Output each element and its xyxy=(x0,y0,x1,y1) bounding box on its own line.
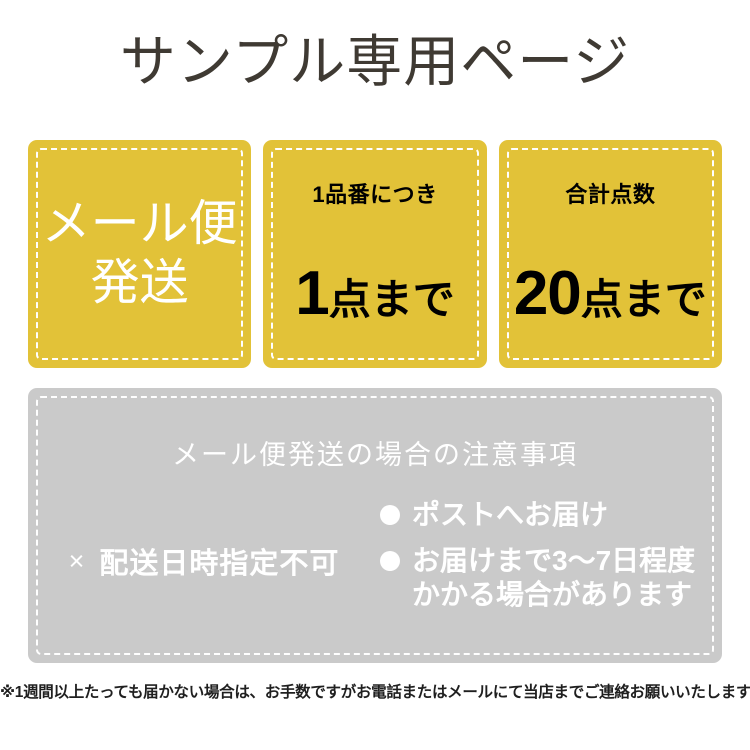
card-total-items-limit-value: 20点まで xyxy=(499,263,722,331)
card-per-item-limit-number: 1 xyxy=(295,259,328,328)
card-mail-delivery-content: メール便 発送 xyxy=(28,140,251,368)
info-cards-row: メール便 発送 1品番につき 1点まで 合計点数 20点まで xyxy=(28,140,722,368)
card-per-item-limit-value: 1点まで xyxy=(263,263,486,331)
page-title: サンプル専用ページ xyxy=(0,26,750,98)
card-per-item-limit-suffix: 点まで xyxy=(329,276,455,323)
card-mail-delivery-line2: 発送 xyxy=(91,254,189,313)
cross-mark-icon: × xyxy=(69,546,86,577)
notice-bullet-2-line2: かかる場合があります xyxy=(412,578,695,612)
card-mail-delivery-line1: メール便 xyxy=(42,195,238,254)
footnote-text: ※1週間以上たっても届かない場合は、お手数ですがお電話またはメールにて当店までご… xyxy=(0,682,750,704)
bullet-dot-icon xyxy=(380,505,400,525)
card-total-items-limit-suffix: 点まで xyxy=(581,276,707,323)
notice-no-date-designation: × 配送日時指定不可 xyxy=(28,496,380,626)
card-per-item-limit-caption: 1品番につき xyxy=(263,181,486,209)
sample-page-banner: サンプル専用ページ メール便 発送 1品番につき 1点まで 合計点数 20点まで xyxy=(0,0,750,750)
notice-body: × 配送日時指定不可 ポストへお届け お届けまで3〜7日程度 かかる場合がありま… xyxy=(28,496,722,626)
card-per-item-limit: 1品番につき 1点まで xyxy=(263,140,486,368)
list-item: お届けまで3〜7日程度 かかる場合があります xyxy=(380,544,722,612)
card-total-items-limit: 合計点数 20点まで xyxy=(499,140,722,368)
card-total-items-limit-number: 20 xyxy=(514,259,581,328)
card-mail-delivery: メール便 発送 xyxy=(28,140,251,368)
card-total-items-limit-caption: 合計点数 xyxy=(499,181,722,209)
bullet-dot-icon xyxy=(380,551,400,571)
notice-bullet-2-text: お届けまで3〜7日程度 かかる場合があります xyxy=(412,544,695,612)
notice-bullet-list: ポストへお届け お届けまで3〜7日程度 かかる場合があります xyxy=(380,496,722,612)
list-item: ポストへお届け xyxy=(380,498,722,532)
notice-no-date-designation-label: 配送日時指定不可 xyxy=(99,540,339,582)
notice-bullet-1-line1: ポストへお届け xyxy=(412,498,608,532)
notice-panel: メール便発送の場合の注意事項 × 配送日時指定不可 ポストへお届け お届けまで3… xyxy=(28,388,722,663)
notice-bullet-2-line1: お届けまで3〜7日程度 xyxy=(412,544,695,578)
notice-heading: メール便発送の場合の注意事項 xyxy=(28,438,722,472)
